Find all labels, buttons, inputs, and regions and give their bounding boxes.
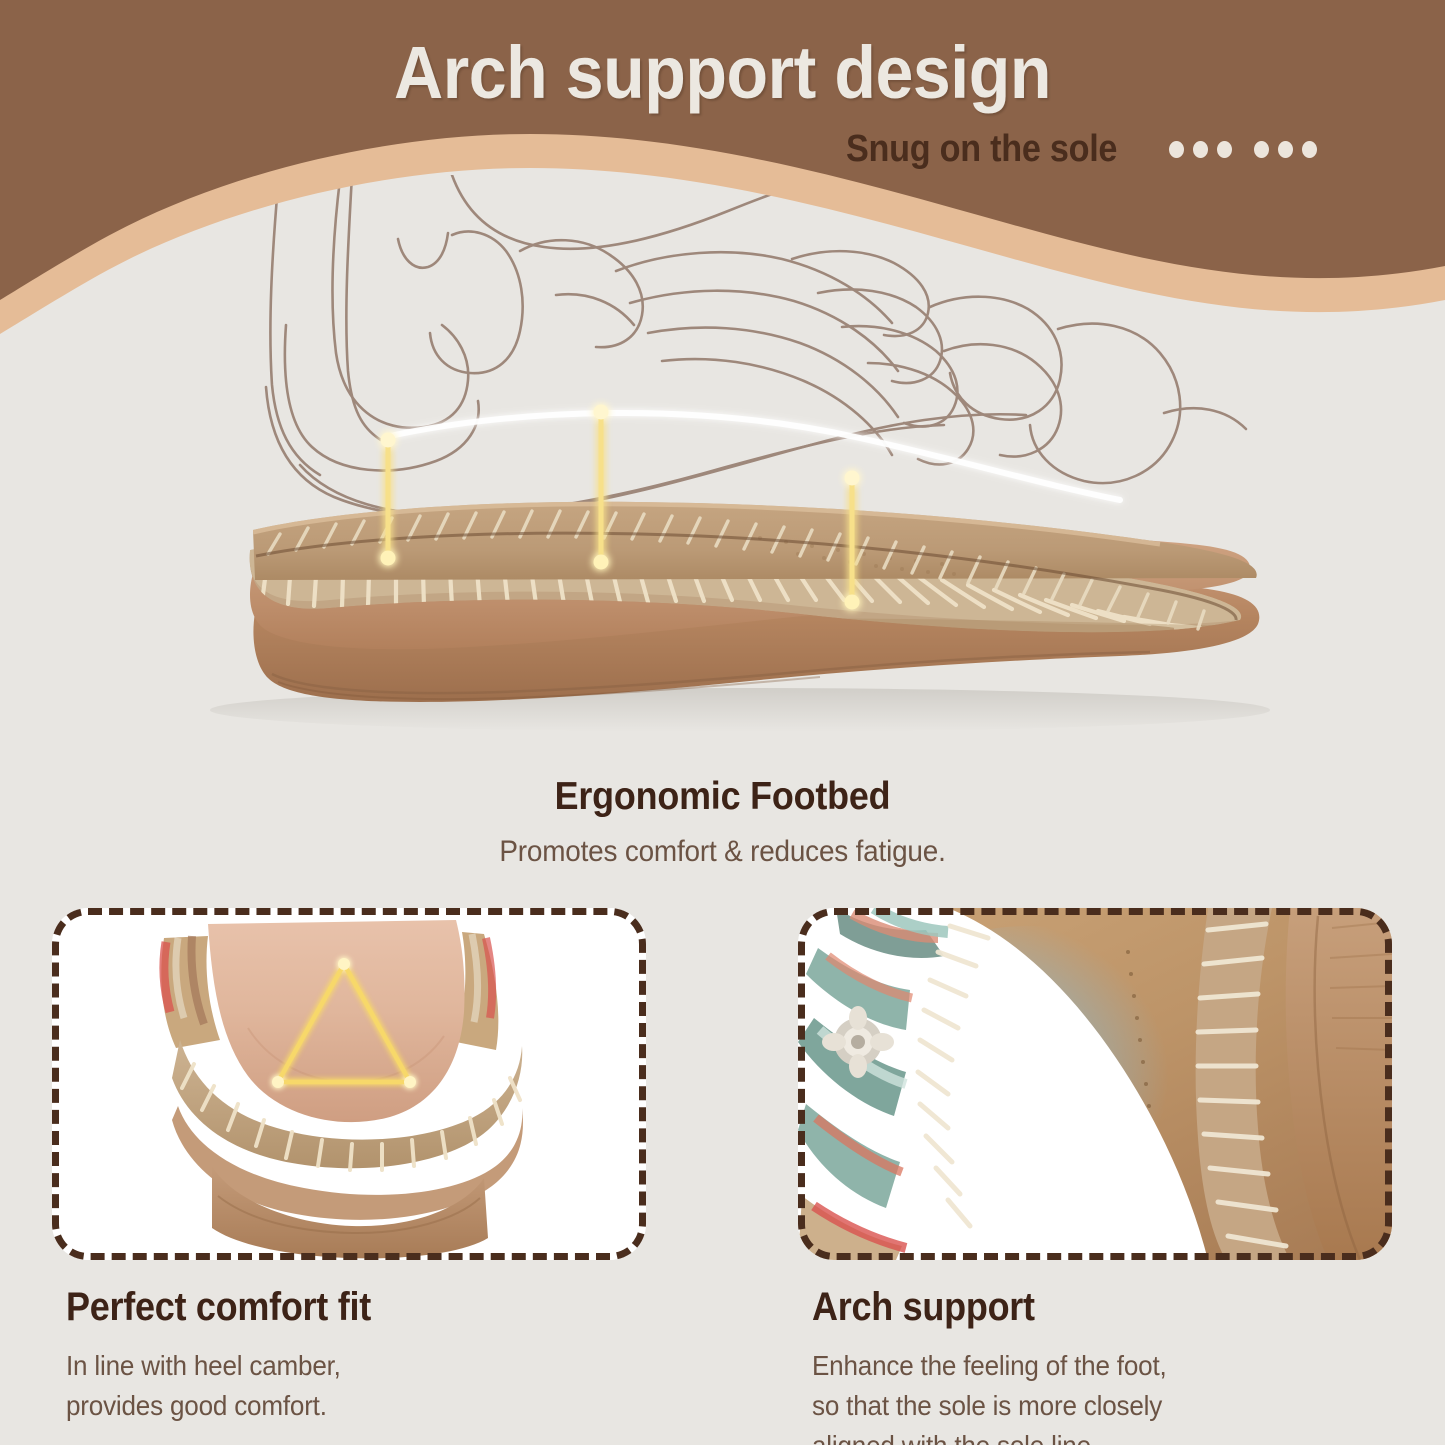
caption-title: Arch support [812,1285,1370,1330]
caption-line: aligned with the sole line. [812,1426,1389,1445]
dot-icon [1169,141,1184,158]
caption-line: provides good comfort. [66,1386,661,1426]
heel-rear-view-with-triangle-overlay [52,908,646,1260]
caption-arch-support: Arch support Enhance the feeling of the … [812,1285,1432,1445]
caption-perfect-comfort-fit: Perfect comfort fit In line with heel ca… [66,1285,706,1426]
footbed-title: Ergonomic Footbed [58,775,1387,819]
header-text-layer: Arch support design Snug on the sole [0,0,1445,400]
caption-line: In line with heel camber, [66,1346,661,1386]
sandal-arch-closeup-with-blue-glow [798,908,1392,1260]
caption-line: so that the sole is more closely [812,1386,1389,1426]
header-subtitle-row: Snug on the sole [846,128,1317,171]
dot-icon [1193,141,1208,158]
infographic-page: Arch support design Snug on the sole [0,0,1445,1445]
dot-icon [1302,141,1317,158]
header-banner: Arch support design Snug on the sole [0,0,1445,400]
dot-group-two [1254,141,1317,158]
dot-icon [1254,141,1269,158]
page-title: Arch support design [58,36,1387,110]
header-subtitle: Snug on the sole [846,128,1117,171]
panel-arch-support [798,908,1392,1260]
footbed-subtitle: Promotes comfort & reduces fatigue. [51,835,1395,869]
caption-line: Enhance the feeling of the foot, [812,1346,1389,1386]
sandal-sole-side-view [0,430,1445,750]
sole-product-image [0,430,1445,750]
dot-icon [1278,141,1293,158]
caption-title: Perfect comfort fit [66,1285,642,1330]
dot-group-one [1169,141,1232,158]
dot-icon [1217,141,1232,158]
panel-perfect-comfort-fit [52,908,646,1260]
center-caption: Ergonomic Footbed Promotes comfort & red… [0,775,1445,869]
